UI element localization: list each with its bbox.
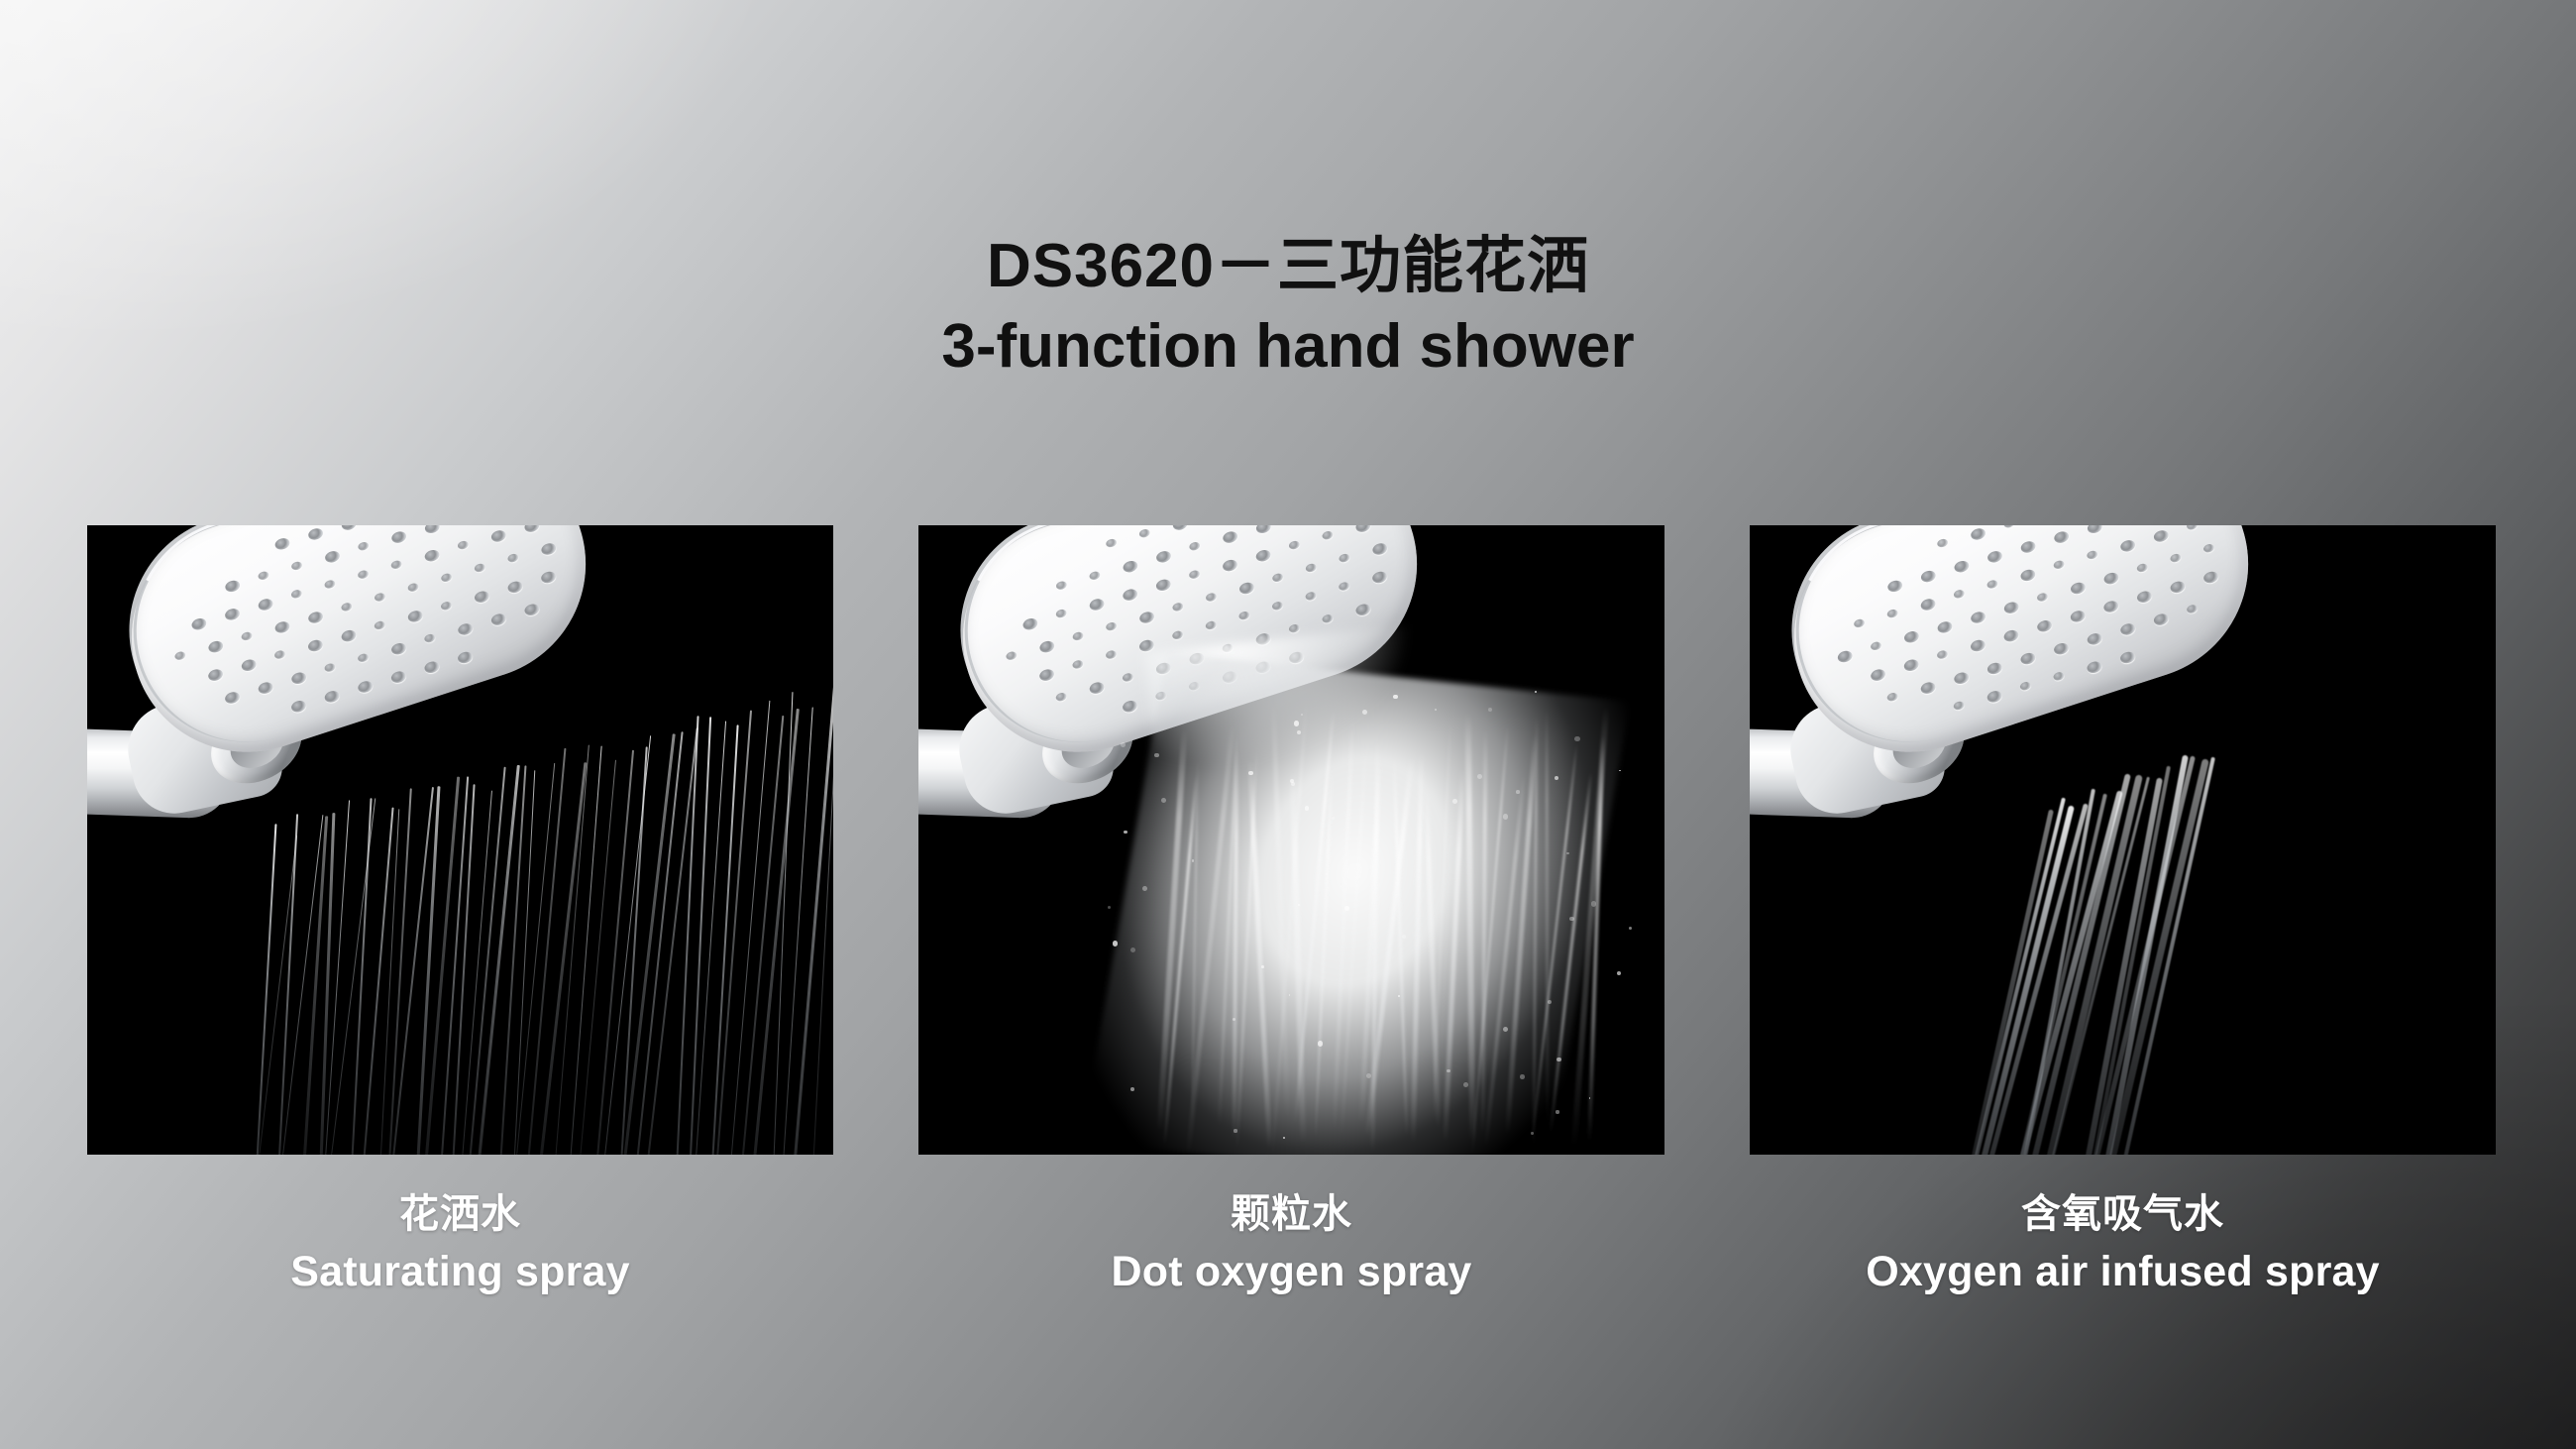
nozzle-hole — [2086, 660, 2103, 675]
nozzle-hole — [1886, 692, 1899, 703]
nozzle-hole — [1138, 528, 1151, 539]
hand-shower-illustration — [1750, 525, 2369, 990]
water-droplet — [1569, 917, 1573, 921]
nozzle-hole — [473, 590, 490, 605]
nozzle-hole — [2053, 641, 2071, 656]
nozzle-hole — [2053, 530, 2071, 545]
nozzle-hole — [2019, 568, 2037, 583]
nozzle-hole — [1254, 631, 1272, 646]
mist-streak — [1531, 743, 1577, 1141]
nozzle-hole — [1238, 581, 1256, 596]
nozzle-hole — [389, 670, 407, 685]
nozzle-hole — [1305, 562, 1318, 573]
nozzle-hole — [2119, 538, 2137, 553]
water-jet — [774, 693, 794, 1155]
nozzle-hole — [2202, 570, 2220, 585]
nozzle-hole — [1188, 681, 1201, 692]
nozzle-hole — [2169, 580, 2187, 595]
page-title-chinese: DS3620－三功能花洒 — [0, 230, 2576, 302]
nozzle-hole — [1122, 699, 1139, 714]
nozzle-hole — [323, 662, 336, 673]
nozzle-hole — [390, 530, 408, 545]
water-droplet — [1130, 947, 1135, 952]
nozzle-hole — [423, 633, 436, 644]
nozzle-hole — [357, 569, 370, 580]
nozzle-hole — [1154, 661, 1172, 676]
mist-streak — [1546, 709, 1550, 1125]
nozzle-hole — [1903, 629, 1921, 644]
nozzle-hole — [240, 658, 258, 673]
water-droplet — [1344, 906, 1348, 910]
nozzle-hole — [540, 541, 558, 556]
nozzle-hole — [1222, 530, 1239, 545]
spray-mode-card-dot-oxygen[interactable]: 颗粒水 Dot oxygen spray — [918, 525, 1664, 1313]
water-droplet — [1318, 1041, 1323, 1046]
water-droplet — [1503, 1027, 1508, 1032]
nozzle-hole — [290, 699, 308, 714]
water-jet — [813, 691, 833, 1155]
nozzle-hole — [1205, 619, 1218, 630]
nozzle-hole — [2036, 618, 2054, 633]
nozzle-hole — [290, 589, 303, 600]
nozzle-hole — [1321, 530, 1334, 541]
nozzle-hole — [1055, 692, 1068, 703]
page-title-english: 3-function hand shower — [0, 310, 2576, 383]
water-droplet — [1535, 691, 1537, 693]
nozzle-hole — [1870, 668, 1887, 683]
water-droplet — [1447, 1069, 1449, 1072]
nozzle-hole — [2135, 590, 2153, 605]
water-jet — [716, 711, 752, 1155]
nozzle-hole — [540, 570, 558, 585]
nozzle-hole — [1321, 613, 1334, 624]
water-jet — [754, 709, 800, 1155]
nozzle-hole — [1021, 616, 1039, 631]
water-droplet — [1130, 1087, 1134, 1091]
nozzle-hole — [1088, 570, 1101, 581]
nozzle-hole — [257, 597, 274, 612]
nozzle-hole — [1288, 623, 1301, 634]
nozzle-hole — [1953, 700, 1966, 711]
water-droplet — [1617, 971, 1621, 975]
nozzle-hole — [390, 559, 403, 570]
nozzle-hole — [2036, 592, 2049, 603]
nozzle-hole — [1886, 609, 1899, 619]
nozzle-hole — [2119, 621, 2137, 636]
nozzle-hole — [1338, 553, 1350, 564]
nozzle-hole — [207, 668, 225, 683]
nozzle-hole — [1953, 589, 1966, 600]
water-jet — [742, 716, 784, 1155]
nozzle-hole — [273, 649, 286, 660]
hand-shower-illustration — [87, 525, 706, 990]
caption-chinese: 花洒水 — [87, 1190, 833, 1240]
water-droplet — [1520, 1074, 1525, 1079]
water-droplet — [1619, 770, 1621, 772]
nozzle-hole — [2052, 671, 2065, 682]
nozzle-hole — [423, 548, 441, 563]
nozzle-hole — [1338, 581, 1350, 592]
water-jet — [730, 701, 770, 1155]
nozzle-hole — [307, 526, 325, 541]
nozzle-hole — [474, 562, 486, 573]
water-droplet — [1113, 941, 1118, 946]
caption-chinese: 颗粒水 — [918, 1190, 1664, 1240]
nozzle-hole — [1005, 650, 1018, 661]
nozzle-hole — [1205, 592, 1218, 603]
nozzle-hole — [489, 613, 507, 627]
nozzle-hole — [374, 592, 386, 603]
water-droplet — [1463, 1082, 1468, 1087]
nozzle-hole — [1038, 639, 1056, 654]
mist-streak — [1570, 707, 1608, 1148]
nozzle-hole — [2169, 553, 2182, 564]
nozzle-hole — [173, 650, 186, 661]
nozzle-hole — [1055, 609, 1068, 619]
nozzle-hole — [357, 679, 375, 694]
nozzle-hole — [1371, 541, 1389, 556]
nozzle-hole — [440, 572, 453, 583]
water-droplet — [1289, 994, 1291, 996]
nozzle-hole — [1271, 572, 1284, 583]
nozzle-hole — [1986, 579, 1998, 590]
nozzle-hole — [2002, 628, 2020, 643]
water-droplet — [1566, 852, 1569, 855]
nozzle-hole — [290, 560, 303, 571]
water-droplet — [1531, 1132, 1533, 1134]
nozzle-hole — [1371, 570, 1389, 585]
nozzle-hole — [523, 525, 541, 534]
nozzle-hole — [506, 553, 519, 564]
nozzle-hole — [457, 650, 475, 665]
nozzle-hole — [374, 619, 386, 630]
nozzle-hole — [1138, 611, 1156, 625]
nozzle-hole — [207, 639, 225, 654]
nozzle-hole — [1970, 526, 1987, 541]
nozzle-hole — [2002, 601, 2020, 615]
water-droplet — [1629, 927, 1632, 930]
nozzle-hole — [2202, 543, 2215, 554]
nozzle-hole — [1919, 597, 1937, 612]
nozzle-hole — [190, 616, 208, 631]
nozzle-hole — [2069, 609, 2087, 623]
nozzle-hole — [1072, 630, 1085, 641]
nozzle-hole — [1304, 591, 1317, 602]
water-jet — [794, 685, 833, 1155]
nozzle-hole — [489, 528, 507, 543]
nozzle-hole — [2019, 539, 2037, 554]
nozzle-hole — [1105, 649, 1118, 660]
mist-streak — [1587, 735, 1605, 1142]
nozzle-hole — [1936, 649, 1949, 660]
nozzle-hole — [340, 602, 353, 613]
water-droplet — [1366, 1073, 1371, 1078]
nozzle-hole — [357, 652, 370, 663]
nozzle-hole — [2086, 549, 2098, 560]
product-photo-dot-oxygen — [918, 525, 1664, 1155]
nozzle-hole — [1055, 580, 1068, 591]
nozzle-hole — [2019, 651, 2037, 666]
nozzle-hole — [2102, 571, 2120, 586]
nozzle-hole — [390, 641, 408, 656]
nozzle-hole — [1936, 538, 1949, 549]
nozzle-hole — [1222, 558, 1239, 573]
spray-mode-gallery: 花洒水 Saturating spray — [87, 525, 2534, 1313]
nozzle-hole — [357, 541, 370, 552]
nozzle-hole — [290, 671, 308, 686]
nozzle-hole — [2152, 613, 2170, 627]
nozzle-hole — [1836, 649, 1854, 664]
nozzle-hole — [1886, 579, 1904, 594]
water-jet — [711, 724, 738, 1155]
nozzle-hole — [2053, 559, 2066, 570]
nozzle-hole — [1154, 691, 1167, 702]
nozzle-hole — [1354, 525, 1372, 534]
nozzle-hole — [457, 540, 470, 551]
water-droplet — [1298, 904, 1300, 906]
water-droplet — [1283, 1137, 1285, 1139]
nozzle-hole — [1953, 671, 1971, 686]
water-droplet — [1503, 814, 1508, 819]
water-droplet — [1548, 1000, 1552, 1004]
nozzle-hole — [1870, 640, 1882, 651]
nozzle-hole — [1188, 541, 1201, 552]
hand-shower-illustration — [918, 525, 1538, 990]
nozzle-hole — [2102, 600, 2120, 614]
caption-oxygen-air-infused: 含氧吸气水 Oxygen air infused spray — [1750, 1190, 2496, 1297]
nozzle-hole — [1936, 619, 1954, 634]
nozzle-hole — [506, 580, 524, 595]
nozzle-hole — [2136, 562, 2149, 573]
nozzle-hole — [1154, 578, 1172, 593]
spray-mode-card-oxygen-air-infused[interactable]: 含氧吸气水 Oxygen air infused spray — [1750, 525, 2496, 1313]
nozzle-hole — [1970, 638, 1987, 653]
nozzle-hole — [1902, 658, 1920, 673]
water-jet — [783, 708, 813, 1155]
nozzle-hole — [224, 579, 242, 594]
nozzle-hole — [2186, 525, 2199, 531]
water-droplet — [1233, 1018, 1235, 1021]
nozzle-hole — [406, 609, 424, 623]
nozzle-hole — [2086, 525, 2103, 535]
nozzle-hole — [2002, 525, 2015, 529]
nozzle-hole — [1138, 638, 1156, 653]
nozzle-hole — [1088, 681, 1106, 696]
nozzle-hole — [2152, 528, 2170, 543]
nozzle-hole — [307, 611, 325, 625]
product-feature-slide: DS3620－三功能花洒 3-function hand shower — [0, 0, 2576, 1449]
caption-dot-oxygen: 颗粒水 Dot oxygen spray — [918, 1190, 1664, 1297]
nozzle-hole — [1188, 569, 1201, 580]
nozzle-hole — [1254, 525, 1272, 535]
nozzle-hole — [340, 525, 358, 532]
nozzle-hole — [1288, 540, 1301, 551]
nozzle-hole — [1986, 661, 2003, 676]
nozzle-hole — [2186, 604, 2199, 614]
nozzle-hole — [1222, 642, 1234, 653]
nozzle-hole — [1122, 672, 1134, 683]
water-droplet — [1398, 995, 1400, 997]
nozzle-hole — [1155, 549, 1173, 564]
nozzle-hole — [241, 630, 254, 641]
nozzle-hole — [2019, 681, 2032, 692]
nozzle-hole — [1071, 659, 1084, 670]
nozzle-hole — [1038, 668, 1056, 683]
water-droplet — [1261, 965, 1264, 968]
slide-header: DS3620－三功能花洒 3-function hand shower — [0, 230, 2576, 383]
nozzle-hole — [224, 607, 242, 621]
nozzle-hole — [1986, 689, 2003, 704]
nozzle-hole — [1986, 549, 2004, 564]
nozzle-hole — [2086, 631, 2103, 646]
nozzle-hole — [323, 579, 336, 590]
nozzle-hole — [273, 536, 291, 551]
water-droplet — [1591, 901, 1596, 906]
nozzle-hole — [1271, 601, 1284, 612]
nozzle-hole — [1288, 650, 1306, 665]
nozzle-hole — [1105, 538, 1118, 549]
nozzle-hole — [224, 690, 242, 705]
water-droplet — [1402, 935, 1406, 939]
nozzle-hole — [1953, 559, 1971, 574]
water-droplet — [1234, 1129, 1236, 1132]
water-droplet — [1589, 1097, 1591, 1099]
nozzle-hole — [1171, 525, 1189, 532]
nozzle-hole — [1254, 548, 1272, 563]
nozzle-hole — [257, 681, 274, 696]
water-droplet — [1556, 1058, 1561, 1062]
nozzle-hole — [1919, 569, 1937, 584]
nozzle-hole — [273, 619, 291, 634]
nozzle-hole — [1254, 660, 1272, 675]
mist-streak — [1484, 775, 1526, 1147]
product-photo-oxygen-air-infused — [1750, 525, 2496, 1155]
nozzle-hole — [323, 689, 341, 704]
nozzle-hole — [1354, 603, 1372, 617]
nozzle-hole — [457, 621, 475, 636]
nozzle-hole — [423, 525, 441, 535]
nozzle-hole — [2119, 650, 2137, 665]
nozzle-hole — [1122, 559, 1139, 574]
nozzle-hole — [1970, 611, 1987, 625]
nozzle-hole — [1919, 681, 1937, 696]
nozzle-hole — [1221, 670, 1238, 685]
nozzle-hole — [1122, 588, 1139, 603]
nozzle-hole — [340, 628, 358, 643]
caption-saturating: 花洒水 Saturating spray — [87, 1190, 833, 1297]
water-droplet — [1555, 776, 1559, 781]
water-droplet — [1556, 1110, 1558, 1113]
caption-chinese: 含氧吸气水 — [1750, 1190, 2496, 1240]
nozzle-hole — [1853, 617, 1866, 628]
mist-streak — [1549, 772, 1592, 1133]
mist-streak — [1532, 716, 1538, 1147]
nozzle-hole — [523, 603, 541, 617]
nozzle-hole — [1188, 651, 1206, 666]
nozzle-hole — [1171, 602, 1184, 613]
nozzle-hole — [2070, 581, 2088, 596]
caption-english: Saturating spray — [87, 1246, 833, 1297]
spray-mode-card-saturating[interactable]: 花洒水 Saturating spray — [87, 525, 833, 1313]
caption-english: Dot oxygen spray — [918, 1246, 1664, 1297]
mist-streak — [1424, 784, 1441, 1129]
mist-streak — [1443, 769, 1465, 1141]
nozzle-hole — [407, 582, 420, 593]
nozzle-hole — [1171, 629, 1184, 640]
nozzle-hole — [1237, 611, 1250, 621]
caption-english: Oxygen air infused spray — [1750, 1246, 2496, 1297]
water-droplet — [1574, 736, 1579, 741]
nozzle-hole — [1088, 597, 1106, 612]
nozzle-hole — [1105, 621, 1118, 632]
nozzle-hole — [324, 549, 342, 564]
nozzle-hole — [257, 570, 269, 581]
nozzle-hole — [423, 660, 441, 675]
nozzle-hole — [307, 638, 325, 653]
product-photo-saturating — [87, 525, 833, 1155]
nozzle-hole — [440, 601, 453, 612]
